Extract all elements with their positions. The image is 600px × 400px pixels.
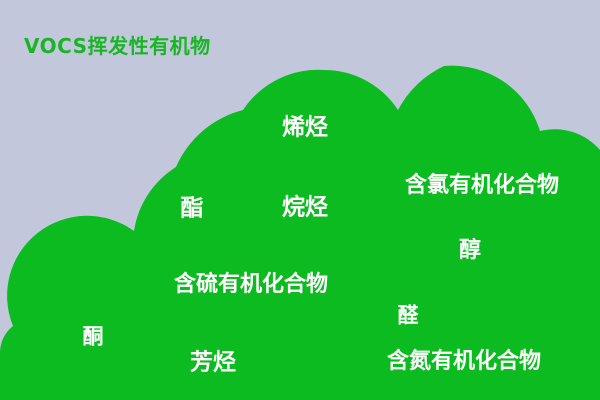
chem-label-ester: 酯	[181, 198, 204, 221]
chem-label-alcohol: 醇	[459, 240, 481, 262]
chem-label-alkane: 烷烃	[282, 197, 328, 220]
chem-label-ketone: 酮	[83, 327, 104, 348]
chem-label-chlorinated: 含氯有机化合物	[405, 175, 559, 197]
chem-label-aldehyde: 醛	[398, 306, 419, 327]
chem-label-nitrogen: 含氮有机化合物	[387, 351, 541, 373]
chem-label-sulfur: 含硫有机化合物	[174, 274, 328, 296]
chem-label-alkene: 烯烃	[282, 117, 328, 140]
page-title: VOCS挥发性有机物	[24, 36, 211, 56]
chem-label-aromatic: 芳烃	[190, 352, 236, 375]
vocs-poster: VOCS挥发性有机物 烯烃 酯 烷烃 含氯有机化合物 醇 含硫有机化合物 醛 酮…	[0, 0, 600, 400]
